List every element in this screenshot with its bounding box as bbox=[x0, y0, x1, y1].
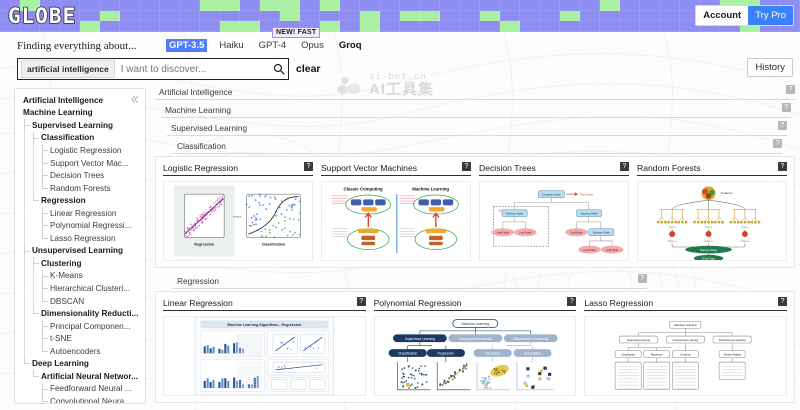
svg-text:Tree-n: Tree-n bbox=[741, 225, 749, 229]
sidebar-item-hierarchical-clusteri[interactable]: Hierarchical Clusteri... bbox=[15, 282, 145, 295]
sidebar-item-principal-componen[interactable]: Principal Componen... bbox=[15, 320, 145, 333]
svg-text:Regression: Regression bbox=[194, 242, 214, 246]
sidebar-item-t-sne[interactable]: t-SNE bbox=[15, 332, 145, 345]
svg-text:Classification: Classification bbox=[262, 242, 286, 246]
card-title: Logistic Regression bbox=[163, 163, 238, 173]
finding-label: Finding everything about... bbox=[17, 40, 136, 52]
section-help-badge[interactable]: ? bbox=[786, 85, 795, 94]
main-content: Artificial Intelligence?Machine Learning… bbox=[155, 84, 795, 408]
card-logistic-regression[interactable]: Logistic Regression?RegressionversusClas… bbox=[163, 163, 313, 261]
sidebar-item-label: Unsupervised Learning bbox=[30, 246, 123, 255]
classification-card-row: Logistic Regression?RegressionversusClas… bbox=[163, 163, 787, 261]
sidebar-item-label: Decision Trees bbox=[48, 171, 104, 180]
model-option-gpt-3-5[interactable]: GPT-3.5 bbox=[166, 39, 207, 52]
sidebar-item-machine-learning[interactable]: Machine Learning bbox=[15, 107, 145, 120]
card-polynomial-regression[interactable]: Polynomial Regression?Machine LearningSu… bbox=[374, 298, 577, 396]
section-header-regression[interactable]: Regression? bbox=[173, 273, 647, 289]
svg-text:Clustering: Clustering bbox=[485, 352, 500, 356]
search-input[interactable] bbox=[115, 64, 270, 75]
sidebar-item-random-forests[interactable]: Random Forests bbox=[15, 182, 145, 195]
card-help-badge[interactable]: ? bbox=[304, 162, 313, 171]
sidebar-item-deep-learning[interactable]: Deep Learning bbox=[15, 357, 145, 370]
card-header: Decision Trees? bbox=[479, 163, 629, 176]
svg-text:Decision Node: Decision Node bbox=[581, 212, 598, 216]
svg-text:Class-n: Class-n bbox=[704, 239, 713, 243]
sidebar-item-label: Deep Learning bbox=[30, 359, 89, 368]
sidebar-item-label: Linear Regression bbox=[48, 209, 116, 218]
section-help-badge[interactable]: ? bbox=[638, 274, 647, 283]
model-selector: GPT-3.5HaikuGPT-4OpusGroq bbox=[166, 39, 365, 52]
svg-text:Classic Computing: Classic Computing bbox=[343, 187, 383, 192]
svg-text:Association: Association bbox=[524, 352, 541, 356]
sidebar-item-label: K-Means bbox=[48, 271, 83, 280]
sidebar-item-label: Polynomial Regressi... bbox=[48, 221, 131, 230]
card-title: Polynomial Regression bbox=[374, 298, 462, 308]
history-button[interactable]: History bbox=[747, 58, 793, 77]
sidebar-item-label: Regression bbox=[39, 196, 86, 205]
card-title: Lasso Regression bbox=[584, 298, 653, 308]
new-fast-badge: NEW! FAST bbox=[272, 27, 320, 38]
svg-text:Leaf Node: Leaf Node bbox=[519, 231, 532, 235]
section-header-supervised-learning[interactable]: Supervised Learning? bbox=[167, 120, 787, 136]
sidebar-item-label: DBSCAN bbox=[48, 297, 84, 306]
sidebar-item-classification[interactable]: Classification bbox=[15, 132, 145, 145]
svg-text:Decision Node: Decision Node bbox=[593, 231, 610, 235]
svg-text:Machine Learning: Machine Learning bbox=[461, 322, 489, 326]
top-banner: GLOBE Account Try Pro bbox=[0, 0, 800, 32]
svg-text:Instance: Instance bbox=[721, 191, 733, 195]
svg-text:Reinforcement Learning: Reinforcement Learning bbox=[719, 339, 746, 342]
search-chip[interactable]: artificial intelligence bbox=[21, 60, 115, 78]
svg-text:Classification: Classification bbox=[622, 354, 636, 357]
sidebar-item-label: Lasso Regression bbox=[48, 234, 116, 243]
svg-text:Clustering: Clustering bbox=[680, 354, 691, 357]
card-header: Polynomial Regression? bbox=[374, 298, 577, 311]
card-lasso-regression[interactable]: Lasso Regression?Machine learningSupervi… bbox=[584, 298, 787, 396]
card-support-vector-machines[interactable]: Support Vector Machines?Classic Computin… bbox=[321, 163, 471, 261]
svg-text:Decision Node: Decision Node bbox=[542, 193, 560, 197]
section-headers-top: Artificial Intelligence?Machine Learning… bbox=[155, 84, 795, 154]
section-title: Supervised Learning bbox=[167, 123, 247, 133]
model-option-groq[interactable]: Groq bbox=[336, 39, 365, 52]
svg-text:...: ... bbox=[707, 219, 710, 223]
search-zone: Finding everything about... GPT-3.5Haiku… bbox=[0, 32, 800, 84]
svg-text:Classification: Classification bbox=[398, 352, 418, 356]
sidebar-item-label: t-SNE bbox=[48, 334, 72, 343]
svg-text:Tree-n: Tree-n bbox=[705, 225, 713, 229]
svg-text:Machine learning: Machine learning bbox=[674, 323, 697, 327]
card-thumbnail-ml-algorithms-regression-sheet[interactable]: Machine Learning Algorithms - Regression bbox=[163, 316, 366, 396]
svg-text:Class-n: Class-n bbox=[668, 239, 677, 243]
card-thumbnail-classic-computing-vs-ml-flow[interactable]: Classic ComputingMachine Learning bbox=[321, 181, 471, 261]
card-header: Random Forests? bbox=[637, 163, 787, 176]
svg-text:Leaf Node: Leaf Node bbox=[497, 231, 510, 235]
section-header-machine-learning[interactable]: Machine Learning? bbox=[161, 102, 791, 118]
card-thumbnail-scatter-regression-classification[interactable]: RegressionversusClassification bbox=[163, 181, 313, 261]
card-linear-regression[interactable]: Linear Regression?Machine Learning Algor… bbox=[163, 298, 366, 396]
section-header-artificial-intelligence[interactable]: Artificial Intelligence? bbox=[155, 84, 795, 100]
app-logo[interactable]: GLOBE bbox=[8, 3, 76, 28]
svg-text:Supervised Learning: Supervised Learning bbox=[404, 337, 434, 341]
svg-text:Root Node: Root Node bbox=[580, 193, 594, 197]
sidebar-item-label: Machine Learning bbox=[21, 108, 93, 117]
regression-card-row: Linear Regression?Machine Learning Algor… bbox=[163, 298, 787, 396]
card-help-badge[interactable]: ? bbox=[620, 162, 629, 171]
card-header: Lasso Regression? bbox=[584, 298, 787, 311]
section-title: Machine Learning bbox=[161, 105, 231, 115]
regression-panel: Linear Regression?Machine Learning Algor… bbox=[155, 291, 795, 403]
model-option-gpt-4[interactable]: GPT-4 bbox=[256, 39, 289, 52]
watermark-line1: ai-bot.cn bbox=[369, 73, 434, 82]
sidebar-item-feedforward-neural[interactable]: Feedforward Neural ... bbox=[15, 383, 145, 396]
card-title: Linear Regression bbox=[163, 298, 233, 308]
svg-text:Unsupervised Learning: Unsupervised Learning bbox=[673, 339, 699, 342]
section-header-regression: Regression? bbox=[155, 273, 795, 289]
sidebar-item-decision-trees[interactable]: Decision Trees bbox=[15, 169, 145, 182]
search-bar[interactable]: artificial intelligence bbox=[17, 58, 289, 80]
card-thumbnail-decision-tree-nodes[interactable]: Sub TreeDecision NodeRoot NodeDecision N… bbox=[479, 181, 629, 261]
card-thumbnail-random-forest-trees[interactable]: InstanceTree-nClass-nTree-nClass-nTree-n… bbox=[637, 181, 787, 261]
sidebar-item-regression[interactable]: Regression bbox=[15, 194, 145, 207]
sidebar-item-list: Artificial IntelligenceMachine LearningS… bbox=[15, 94, 145, 404]
sidebar-item-label: Convolutional Neura... bbox=[48, 397, 131, 404]
clear-button[interactable]: clear bbox=[296, 63, 321, 75]
sidebar-item-supervised-learning[interactable]: Supervised Learning bbox=[15, 119, 145, 132]
card-help-badge[interactable]: ? bbox=[778, 162, 787, 171]
section-title: Regression bbox=[173, 276, 219, 286]
svg-text:Majority-Voting: Majority-Voting bbox=[700, 248, 718, 252]
sidebar-item-label: Dimensionality Reducti... bbox=[39, 309, 138, 318]
card-thumbnail-ml-taxonomy-tree[interactable]: Machine learningSupervised LearningUnsup… bbox=[584, 316, 787, 396]
sidebar-item-label: Principal Componen... bbox=[48, 322, 131, 331]
search-icon[interactable] bbox=[270, 63, 288, 75]
card-header: Support Vector Machines? bbox=[321, 163, 471, 176]
sidebar-item-label: Clustering bbox=[39, 259, 82, 268]
svg-text:Machine Learning: Machine Learning bbox=[412, 187, 449, 192]
section-title: Classification bbox=[173, 141, 226, 151]
sidebar-item-label: Supervised Learning bbox=[30, 121, 113, 130]
card-help-badge[interactable]: ? bbox=[778, 297, 787, 306]
svg-text:Supervised Learning: Supervised Learning bbox=[627, 339, 651, 342]
account-button[interactable]: Account bbox=[696, 6, 748, 25]
sidebar-item-artificial-intelligence[interactable]: Artificial Intelligence bbox=[15, 94, 145, 107]
svg-text:Leaf Node: Leaf Node bbox=[571, 231, 584, 235]
card-help-badge[interactable]: ? bbox=[567, 297, 576, 306]
card-random-forests[interactable]: Random Forests?InstanceTree-nClass-nTree… bbox=[637, 163, 787, 261]
banner-pixel-grid bbox=[0, 0, 800, 32]
svg-text:Tree-n: Tree-n bbox=[668, 225, 676, 229]
sidebar-item-unsupervised-learning[interactable]: Unsupervised Learning bbox=[15, 245, 145, 258]
sidebar-item-support-vector-mac[interactable]: Support Vector Mac... bbox=[15, 157, 145, 170]
sidebar-item-convolutional-neura[interactable]: Convolutional Neura... bbox=[15, 395, 145, 404]
section-header-classification[interactable]: Classification? bbox=[173, 138, 782, 154]
svg-text:Regression: Regression bbox=[437, 352, 454, 356]
svg-text:Final-Class: Final-Class bbox=[702, 256, 716, 260]
svg-text:Unsupervised Learning: Unsupervised Learning bbox=[458, 337, 492, 341]
card-help-badge[interactable]: ? bbox=[462, 162, 471, 171]
svg-text:Machine Learning Algorithms -: Machine Learning Algorithms - Regression bbox=[227, 323, 301, 327]
account-controls: Account Try Pro bbox=[695, 5, 794, 26]
sidebar-item-label: Logistic Regression bbox=[48, 146, 121, 155]
svg-text:Reinforcement Learning: Reinforcement Learning bbox=[513, 337, 548, 341]
classification-panel: Logistic Regression?RegressionversusClas… bbox=[155, 156, 795, 268]
sidebar-item-autoencoders[interactable]: Autoencoders bbox=[15, 345, 145, 358]
sidebar-item-artificial-neural-networ[interactable]: Artificial Neural Networ... bbox=[15, 370, 145, 383]
svg-text:Regression: Regression bbox=[651, 354, 663, 357]
sidebar-item-dbscan[interactable]: DBSCAN bbox=[15, 295, 145, 308]
sidebar-item-logistic-regression[interactable]: Logistic Regression bbox=[15, 144, 145, 157]
sidebar-item-label: Autoencoders bbox=[48, 347, 101, 356]
card-header: Linear Regression? bbox=[163, 298, 366, 311]
sidebar-item-clustering[interactable]: Clustering bbox=[15, 257, 145, 270]
sidebar-item-label: Support Vector Mac... bbox=[48, 159, 129, 168]
svg-text:Leaf Node: Leaf Node bbox=[606, 248, 619, 252]
svg-text:Class-n: Class-n bbox=[741, 239, 750, 243]
card-help-badge[interactable]: ? bbox=[357, 297, 366, 306]
sidebar-tree: Artificial IntelligenceMachine LearningS… bbox=[14, 88, 146, 404]
card-decision-trees[interactable]: Decision Trees?Sub TreeDecision NodeRoot… bbox=[479, 163, 629, 261]
sidebar-item-label: Classification bbox=[39, 133, 94, 142]
model-option-opus[interactable]: Opus bbox=[298, 39, 327, 52]
model-option-haiku[interactable]: Haiku bbox=[216, 39, 246, 52]
card-title: Random Forests bbox=[637, 163, 701, 173]
sidebar-item-label: Feedforward Neural ... bbox=[48, 384, 131, 393]
card-header: Logistic Regression? bbox=[163, 163, 313, 176]
try-pro-button[interactable]: Try Pro bbox=[748, 6, 793, 25]
section-help-badge[interactable]: ? bbox=[773, 139, 782, 148]
sidebar-item-k-means[interactable]: K-Means bbox=[15, 270, 145, 283]
app-root: GLOBE Account Try Pro Finding everything… bbox=[0, 0, 800, 410]
card-title: Support Vector Machines bbox=[321, 163, 417, 173]
svg-text:versus: versus bbox=[233, 215, 242, 219]
card-thumbnail-ml-taxonomy-plots[interactable]: Machine LearningSupervised LearningUnsup… bbox=[374, 316, 577, 396]
section-help-badge[interactable]: ? bbox=[778, 121, 787, 130]
card-title: Decision Trees bbox=[479, 163, 536, 173]
sidebar-item-label: Artificial Intelligence bbox=[21, 96, 103, 105]
sidebar-item-label: Hierarchical Clusteri... bbox=[48, 284, 130, 293]
svg-text:Leaf Node: Leaf Node bbox=[584, 248, 597, 252]
sidebar-item-polynomial-regressi[interactable]: Polynomial Regressi... bbox=[15, 219, 145, 232]
sidebar-item-lasso-regression[interactable]: Lasso Regression bbox=[15, 232, 145, 245]
chevron-double-left-icon[interactable] bbox=[129, 94, 140, 108]
sidebar-item-label: Artificial Neural Networ... bbox=[39, 372, 138, 381]
sidebar-item-label: Random Forests bbox=[48, 184, 111, 193]
sidebar-item-linear-regression[interactable]: Linear Regression bbox=[15, 207, 145, 220]
section-title: Artificial Intelligence bbox=[155, 87, 232, 97]
section-help-badge[interactable]: ? bbox=[782, 103, 791, 112]
svg-text:Decision Node: Decision Node bbox=[506, 212, 523, 216]
sidebar-item-dimensionality-reducti[interactable]: Dimensionality Reducti... bbox=[15, 307, 145, 320]
svg-text:Decision Making: Decision Making bbox=[724, 355, 742, 357]
